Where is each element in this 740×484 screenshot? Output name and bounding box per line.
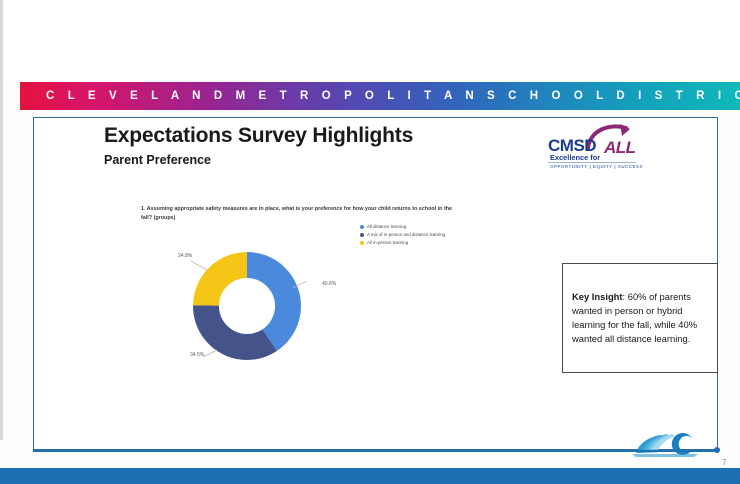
- legend-item[interactable]: All in-person learning: [360, 240, 445, 245]
- district-header-band: C L E V E L A N D M E T R O P O L I T A …: [20, 82, 740, 110]
- page-title: Expectations Survey Highlights: [104, 124, 413, 148]
- legend-label: All in-person learning: [367, 240, 408, 245]
- footer-divider: [33, 450, 718, 452]
- donut-value-label-all-in-person: 24.8%: [178, 253, 192, 259]
- page-top-margin: [3, 0, 740, 80]
- district-name-text: C L E V E L A N D M E T R O P O L I T A …: [46, 90, 740, 102]
- donut-value-label-mix: 34.5%: [190, 352, 204, 358]
- chart-legend: All distance learning A mix of in-person…: [360, 224, 445, 249]
- chart-question-text: 1. Assuming appropriate safety measures …: [141, 205, 457, 224]
- cmsd-logo: CMSD ALL Excellence for OPPORTUNITY | EQ…: [548, 122, 640, 174]
- logo-tagline: Excellence for: [550, 153, 600, 162]
- key-insight-label: Key Insight: [572, 291, 623, 302]
- donut-value-label-all-distance: 40.6%: [322, 281, 336, 287]
- legend-label: A mix of in-person and distance learning: [367, 232, 445, 237]
- donut-chart: [181, 248, 313, 364]
- slide-page: C L E V E L A N D M E T R O P O L I T A …: [0, 0, 740, 484]
- legend-swatch-icon: [360, 233, 364, 237]
- legend-item[interactable]: All distance learning: [360, 224, 445, 229]
- logo-subtagline: OPPORTUNITY | EQUITY | SUCCESS: [550, 164, 643, 169]
- key-insight-text: Key Insight: 60% of parents wanted in pe…: [572, 290, 712, 346]
- logo-divider: [548, 162, 636, 163]
- legend-swatch-icon: [360, 225, 364, 229]
- legend-label: All distance learning: [367, 224, 406, 229]
- logo-all-text: ALL: [604, 138, 636, 158]
- legend-swatch-icon: [360, 241, 364, 245]
- leader-line-navy: [203, 350, 217, 357]
- legend-item[interactable]: A mix of in-person and distance learning: [360, 232, 445, 237]
- cmsd-wave-logo-icon: [630, 431, 702, 459]
- page-number: 7: [722, 458, 726, 467]
- footer-dot-icon: [714, 447, 720, 453]
- bottom-band: [0, 468, 740, 484]
- page-subtitle: Parent Preference: [104, 153, 211, 167]
- leader-line-yellow: [191, 261, 207, 270]
